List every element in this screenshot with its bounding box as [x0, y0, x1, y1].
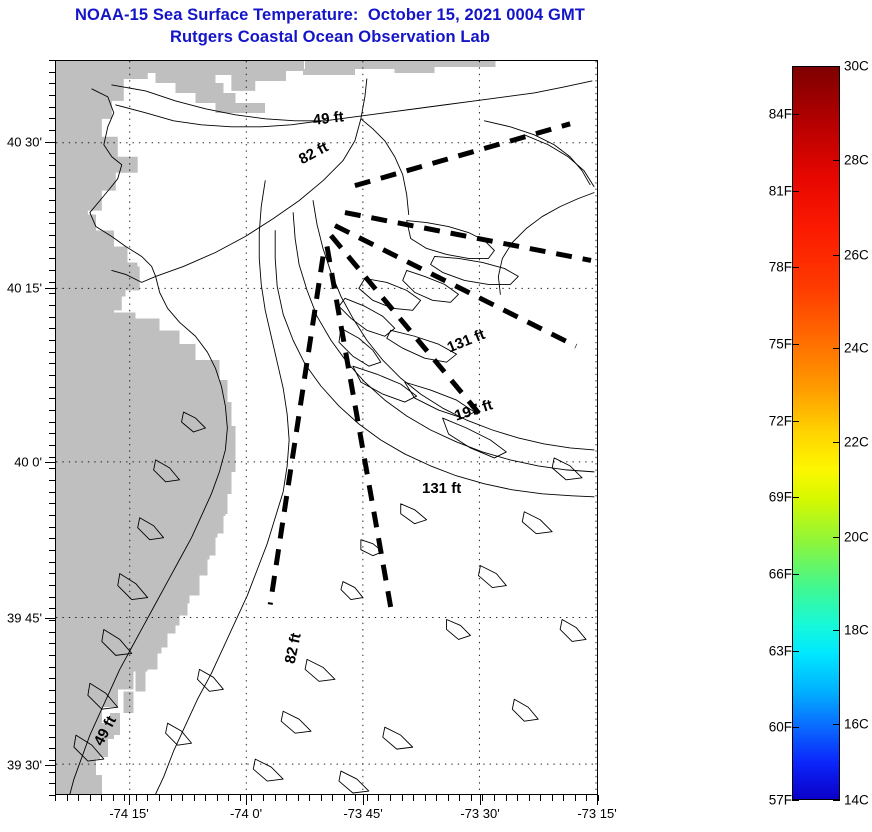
y-axis-tick: [49, 188, 55, 189]
colorbar-label-fahrenheit: 60F: [769, 720, 792, 735]
x-axis-tick: [459, 795, 460, 801]
y-axis-label: 39 45': [0, 611, 42, 626]
y-axis-tick: [49, 317, 55, 318]
x-axis-tick: [413, 795, 414, 801]
y-axis-tick: [49, 352, 55, 353]
colorbar-tick-fahrenheit: [792, 651, 799, 652]
y-axis-tick: [49, 457, 55, 458]
colorbar-label-celsius: 30C: [844, 59, 869, 74]
title-line-1: NOAA-15 Sea Surface Temperature: October…: [0, 4, 660, 26]
colorbar-label-fahrenheit: 57F: [769, 793, 792, 808]
x-axis-tick: [448, 795, 449, 801]
x-axis-tick: [355, 795, 356, 801]
colorbar-label-fahrenheit: 84F: [769, 107, 792, 122]
y-axis-tick: [49, 305, 55, 306]
x-axis-tick: [171, 795, 172, 801]
page-title: NOAA-15 Sea Surface Temperature: October…: [0, 4, 660, 48]
y-axis-tick: [49, 258, 55, 259]
x-axis-tick: [113, 795, 114, 801]
colorbar-tick-fahrenheit: [792, 114, 799, 115]
x-axis-major-tick: [363, 795, 364, 805]
x-axis-tick: [147, 795, 148, 801]
y-axis-tick: [49, 585, 55, 586]
x-axis-major-tick: [480, 795, 481, 805]
x-axis-tick: [402, 795, 403, 801]
x-axis-tick: [344, 795, 345, 801]
sst-map-panel[interactable]: [55, 60, 598, 795]
y-axis-major-tick: [45, 288, 55, 289]
x-axis-tick: [482, 795, 483, 801]
colorbar-tick-celsius: [833, 66, 840, 67]
x-axis-tick: [598, 795, 599, 801]
y-axis-tick: [49, 795, 55, 796]
x-axis-tick: [563, 795, 564, 801]
y-axis-tick: [49, 422, 55, 423]
x-axis-major-tick: [597, 795, 598, 805]
y-axis-label: 40 0': [0, 455, 42, 470]
colorbar-tick-fahrenheit: [792, 800, 799, 801]
x-axis-tick: [78, 795, 79, 801]
y-axis-tick: [49, 503, 55, 504]
temperature-colorbar[interactable]: [792, 66, 840, 800]
y-axis-tick: [49, 737, 55, 738]
y-axis-tick: [49, 72, 55, 73]
y-axis-tick: [49, 772, 55, 773]
x-axis-tick: [205, 795, 206, 801]
colorbar-tick-fahrenheit: [792, 497, 799, 498]
y-axis-tick: [49, 492, 55, 493]
x-axis-tick: [586, 795, 587, 801]
y-axis-label: 39 30': [0, 758, 42, 773]
x-axis-tick: [286, 795, 287, 801]
y-axis-label: 40 15': [0, 281, 42, 296]
colorbar-label-celsius: 22C: [844, 435, 869, 450]
x-axis-tick: [436, 795, 437, 801]
x-axis-tick: [517, 795, 518, 801]
y-axis-tick: [49, 643, 55, 644]
y-axis-label: 40 30': [0, 135, 42, 150]
y-axis-tick: [49, 375, 55, 376]
x-axis-tick: [217, 795, 218, 801]
y-axis-tick: [49, 293, 55, 294]
colorbar-tick-fahrenheit: [792, 574, 799, 575]
x-axis-major-tick: [129, 795, 130, 805]
colorbar-label-fahrenheit: 75F: [769, 337, 792, 352]
title-line-2: Rutgers Coastal Ocean Observation Lab: [0, 26, 660, 48]
colorbar-label-fahrenheit: 69F: [769, 490, 792, 505]
colorbar-tick-fahrenheit: [792, 421, 799, 422]
y-axis-major-tick: [45, 142, 55, 143]
y-axis-tick: [49, 655, 55, 656]
y-axis-tick: [49, 328, 55, 329]
y-axis-tick: [49, 200, 55, 201]
y-axis-tick: [49, 118, 55, 119]
y-axis-tick: [49, 60, 55, 61]
x-axis-tick: [275, 795, 276, 801]
x-axis-tick: [124, 795, 125, 801]
colorbar-label-fahrenheit: 81F: [769, 184, 792, 199]
y-axis-tick: [49, 597, 55, 598]
x-axis-tick: [309, 795, 310, 801]
x-axis-tick: [506, 795, 507, 801]
y-axis-tick: [49, 550, 55, 551]
colorbar-tick-celsius: [833, 442, 840, 443]
x-axis-tick: [90, 795, 91, 801]
y-axis-tick: [49, 538, 55, 539]
y-axis-tick: [49, 363, 55, 364]
y-axis-tick: [49, 468, 55, 469]
x-axis-tick: [240, 795, 241, 801]
x-axis-tick: [332, 795, 333, 801]
x-axis-major-tick: [246, 795, 247, 805]
colorbar-tick-celsius: [833, 630, 840, 631]
y-axis-tick: [49, 445, 55, 446]
x-axis-tick: [471, 795, 472, 801]
y-axis-tick: [49, 177, 55, 178]
y-axis-tick: [49, 608, 55, 609]
x-axis-tick: [378, 795, 379, 801]
y-axis-tick: [49, 713, 55, 714]
y-axis-tick: [49, 270, 55, 271]
y-axis-tick: [49, 223, 55, 224]
y-axis-tick: [49, 515, 55, 516]
x-axis-label: -73 15': [577, 806, 616, 821]
y-axis-tick: [49, 387, 55, 388]
colorbar-label-fahrenheit: 66F: [769, 567, 792, 582]
x-axis-tick: [228, 795, 229, 801]
y-axis-tick: [49, 562, 55, 563]
x-axis-tick: [251, 795, 252, 801]
y-axis-major-tick: [45, 618, 55, 619]
x-axis-label: -74 0': [230, 806, 262, 821]
y-axis-tick: [49, 130, 55, 131]
x-axis-tick: [575, 795, 576, 801]
x-axis-tick: [494, 795, 495, 801]
y-axis-tick: [49, 410, 55, 411]
y-axis-tick: [49, 620, 55, 621]
colorbar-tick-celsius: [833, 160, 840, 161]
x-axis-label: -74 15': [109, 806, 148, 821]
map-canvas: [56, 61, 597, 794]
y-axis-tick: [49, 748, 55, 749]
y-axis-tick: [49, 95, 55, 96]
colorbar-label-fahrenheit: 72F: [769, 414, 792, 429]
y-axis-major-tick: [45, 765, 55, 766]
x-axis-label: -73 30': [460, 806, 499, 821]
colorbar-label-fahrenheit: 63F: [769, 644, 792, 659]
colorbar-label-celsius: 14C: [844, 793, 869, 808]
y-axis-tick: [49, 212, 55, 213]
y-axis-tick: [49, 573, 55, 574]
x-axis-label: -73 45': [343, 806, 382, 821]
x-axis-tick: [529, 795, 530, 801]
y-axis-tick: [49, 433, 55, 434]
x-axis-tick: [552, 795, 553, 801]
x-axis-tick: [159, 795, 160, 801]
y-axis-tick: [49, 678, 55, 679]
colorbar-tick-celsius: [833, 537, 840, 538]
x-axis-tick: [182, 795, 183, 801]
x-axis-tick: [425, 795, 426, 801]
colorbar-tick-celsius: [833, 255, 840, 256]
y-axis-tick: [49, 480, 55, 481]
colorbar-label-fahrenheit: 78F: [769, 260, 792, 275]
y-axis-tick: [49, 247, 55, 248]
colorbar-label-celsius: 20C: [844, 530, 869, 545]
x-axis-tick: [263, 795, 264, 801]
y-axis-tick: [49, 398, 55, 399]
x-axis-tick: [367, 795, 368, 801]
y-axis-tick: [49, 83, 55, 84]
colorbar-tick-fahrenheit: [792, 727, 799, 728]
colorbar-label-celsius: 18C: [844, 623, 869, 638]
colorbar-label-celsius: 24C: [844, 341, 869, 356]
x-axis-tick: [55, 795, 56, 801]
x-axis-tick: [194, 795, 195, 801]
colorbar-label-celsius: 26C: [844, 248, 869, 263]
colorbar-tick-celsius: [833, 724, 840, 725]
y-axis-tick: [49, 702, 55, 703]
y-axis-tick: [49, 725, 55, 726]
x-axis-tick: [390, 795, 391, 801]
x-axis-tick: [67, 795, 68, 801]
y-axis-tick: [49, 527, 55, 528]
colorbar-label-celsius: 28C: [844, 153, 869, 168]
y-axis-tick: [49, 690, 55, 691]
colorbar-label-celsius: 16C: [844, 717, 869, 732]
depth-contour-label: 131 ft: [422, 480, 461, 497]
y-axis-tick: [49, 282, 55, 283]
y-axis-tick: [49, 235, 55, 236]
y-axis-tick: [49, 632, 55, 633]
colorbar-tick-fahrenheit: [792, 344, 799, 345]
temperature-colorbar-group[interactable]: 84F81F78F75F72F69F66F63F60F57F30C28C26C2…: [700, 60, 872, 808]
colorbar-tick-celsius: [833, 800, 840, 801]
y-axis-tick: [49, 153, 55, 154]
y-axis-tick: [49, 667, 55, 668]
colorbar-tick-fahrenheit: [792, 191, 799, 192]
y-axis-major-tick: [45, 462, 55, 463]
x-axis-tick: [321, 795, 322, 801]
x-axis-tick: [101, 795, 102, 801]
y-axis-tick: [49, 165, 55, 166]
x-axis-tick: [298, 795, 299, 801]
x-axis-tick: [540, 795, 541, 801]
y-axis-tick: [49, 760, 55, 761]
y-axis-tick: [49, 340, 55, 341]
colorbar-tick-fahrenheit: [792, 267, 799, 268]
colorbar-tick-celsius: [833, 348, 840, 349]
y-axis-tick: [49, 783, 55, 784]
y-axis-tick: [49, 107, 55, 108]
x-axis-tick: [136, 795, 137, 801]
